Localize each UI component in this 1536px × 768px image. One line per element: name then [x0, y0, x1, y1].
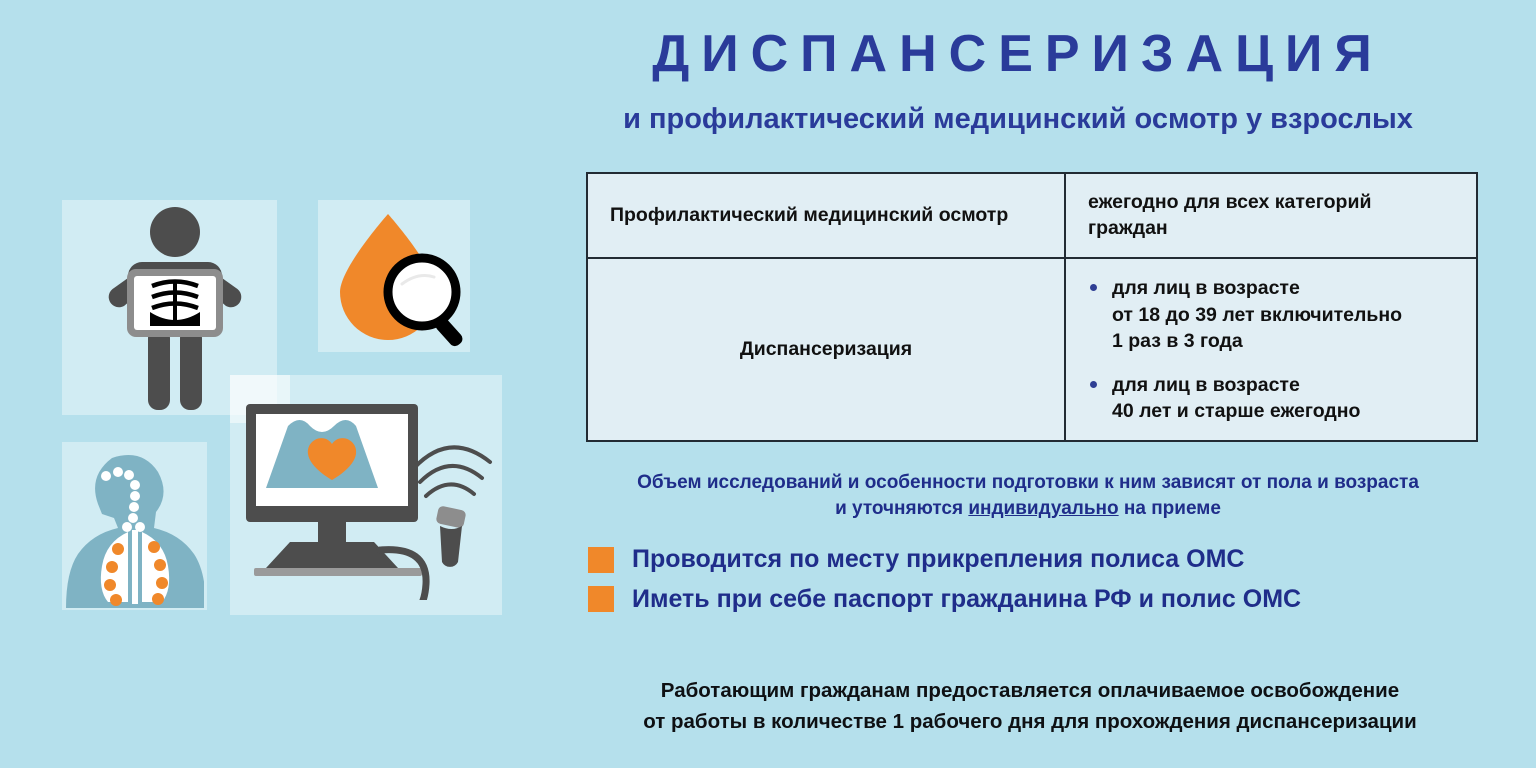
blood-drop-magnifier-icon [326, 206, 468, 353]
footer-line-1: Работающим гражданам предоставляется опл… [661, 679, 1399, 702]
table-row: Диспансеризация для лиц в возрастеот 18 … [587, 258, 1477, 441]
illustration-area [0, 170, 540, 640]
list-item: для лиц в возрастеот 18 до 39 лет включи… [1088, 275, 1454, 353]
content-area: ДИСПАНСЕРИЗАЦИЯ и профилактический медиц… [560, 0, 1536, 768]
page-title: ДИСПАНСЕРИЗАЦИЯ [560, 28, 1476, 80]
list-item: Иметь при себе паспорт гражданина РФ и п… [588, 586, 1488, 614]
key-points-list: Проводится по месту прикрепления полиса … [588, 546, 1488, 625]
infographic-page: ДИСПАНСЕРИЗАЦИЯ и профилактический медиц… [0, 0, 1536, 768]
cell-frequency: для лиц в возрастеот 18 до 39 лет включи… [1065, 258, 1477, 441]
schedule-table: Профилактический медицинский осмотр ежег… [586, 172, 1478, 442]
footer-line-2: от работы в количестве 1 рабочего дня дл… [643, 710, 1417, 733]
orange-square-bullet-icon [588, 586, 614, 612]
cell-service-name: Диспансеризация [587, 258, 1065, 441]
note-underlined-word: индивидуально [968, 498, 1118, 519]
key-point-label: Иметь при себе паспорт гражданина РФ и п… [632, 586, 1301, 614]
xray-person-icon [90, 206, 260, 421]
note-line-2-after: на приеме [1119, 498, 1221, 519]
note-text: Объем исследований и особенности подгото… [570, 470, 1486, 521]
ultrasound-monitor-icon [240, 400, 502, 605]
list-item: Проводится по месту прикрепления полиса … [588, 546, 1488, 574]
key-point-label: Проводится по месту прикрепления полиса … [632, 546, 1244, 574]
note-line-2-before: и уточняются [835, 498, 968, 519]
cell-frequency: ежегодно для всех категорий граждан [1065, 173, 1477, 258]
frequency-bullet-list: для лиц в возрастеот 18 до 39 лет включи… [1088, 275, 1454, 424]
list-item: для лиц в возрасте40 лет и старше ежегод… [1088, 372, 1454, 424]
note-line-1: Объем исследований и особенности подгото… [637, 472, 1419, 493]
table-row: Профилактический медицинский осмотр ежег… [587, 173, 1477, 258]
footer-note: Работающим гражданам предоставляется опл… [560, 676, 1500, 738]
orange-square-bullet-icon [588, 547, 614, 573]
page-subtitle: и профилактический медицинский осмотр у … [560, 104, 1476, 136]
lungs-person-icon [66, 446, 204, 613]
cell-service-name: Профилактический медицинский осмотр [587, 173, 1065, 258]
